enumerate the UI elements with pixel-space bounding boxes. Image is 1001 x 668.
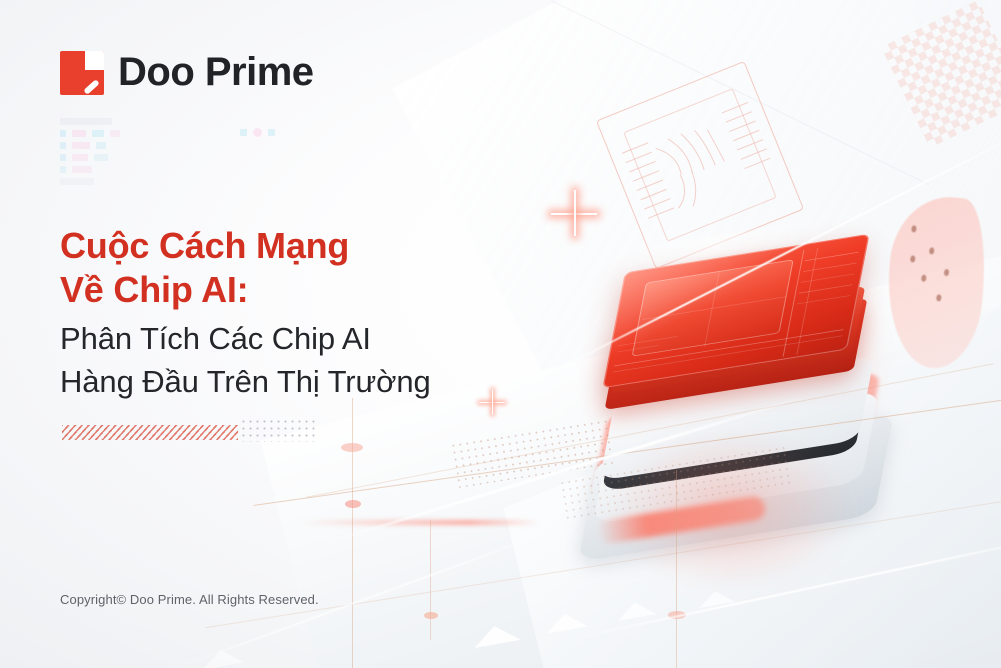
brand-logo[interactable]: Doo Prime [60,50,314,95]
ai-chip-graphic [596,206,886,436]
checkerboard-grid-icon [881,0,1001,148]
page-title: Cuộc Cách Mạng Về Chip AI: [60,224,349,312]
page-subtitle: Phân Tích Các Chip AI Hàng Đầu Trên Thị … [60,318,431,404]
decorative-code-block [60,118,280,188]
copyright-text: Copyright© Doo Prime. All Rights Reserve… [60,592,319,607]
content-layer: Doo Prime [0,0,560,668]
doo-prime-logo-icon [60,51,104,95]
diagonal-hatch-bar [62,425,238,440]
blade-dot [944,269,950,276]
hatch-dot-grid [240,418,316,442]
brand-name: Doo Prime [118,50,314,95]
banner-canvas: Doo Prime [0,0,1001,668]
